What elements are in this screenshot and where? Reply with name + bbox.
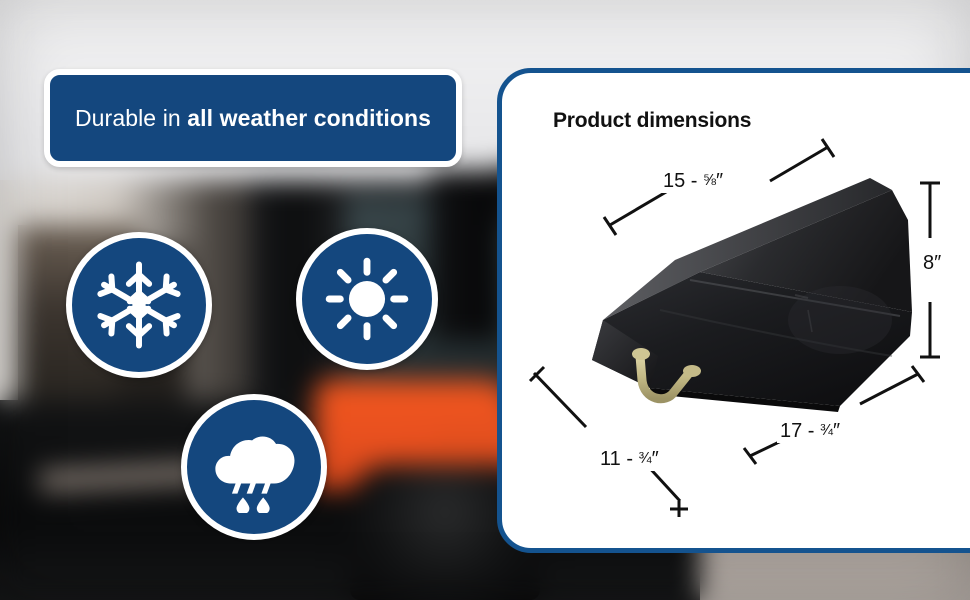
dimension-label-right-height: 8″	[920, 252, 944, 275]
panel-title: Product dimensions	[553, 109, 751, 133]
infographic-stage: Durable in all weather conditions	[0, 0, 970, 600]
dim-br-unit: ″	[833, 420, 840, 442]
dimension-line-top	[600, 133, 850, 258]
dimension-line-bottom-right	[742, 360, 927, 465]
dim-right-unit: ″	[934, 252, 941, 274]
dimension-line-bottom-left	[528, 365, 703, 520]
dim-top-unit: ″	[716, 170, 723, 192]
dimension-bl-svg	[528, 365, 703, 520]
dimension-label-bottom-right: 17 - ¾″	[777, 420, 843, 443]
banner-text-bold: all weather conditions	[187, 105, 431, 131]
dimension-br-svg	[742, 360, 927, 465]
rain-cloud-icon	[208, 421, 300, 513]
dimension-label-bottom-left: 11 - ¾″	[597, 448, 662, 471]
dim-top-whole: 15 -	[663, 170, 703, 192]
weather-badge-rain	[181, 394, 327, 540]
dim-top-fraction: ⅝	[703, 172, 716, 190]
dim-br-whole: 17 -	[780, 420, 820, 442]
sun-icon	[324, 256, 410, 342]
dim-bl-unit: ″	[652, 448, 659, 470]
banner-text-regular: Durable in	[75, 105, 187, 131]
dimension-label-top: 15 - ⅝″	[660, 170, 726, 193]
banner-text: Durable in all weather conditions	[75, 105, 431, 132]
weather-badge-sun	[296, 228, 438, 370]
dimension-top-svg	[600, 133, 850, 258]
dim-right-whole: 8	[923, 252, 934, 274]
dim-br-fraction: ¾	[820, 422, 833, 440]
dim-bl-fraction: ¾	[639, 450, 652, 468]
durability-banner: Durable in all weather conditions	[44, 69, 462, 167]
weather-badge-snow	[66, 232, 212, 378]
snowflake-icon	[93, 259, 185, 351]
dim-bl-whole: 11 -	[600, 448, 639, 470]
